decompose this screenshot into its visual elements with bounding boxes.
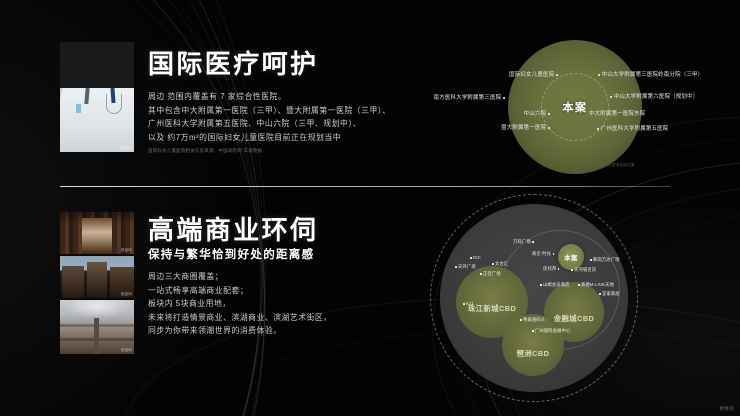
cbd-poi-label: 粤泰国码头 xyxy=(523,317,545,322)
medical-poi-label: 广州医科大学附属第五医院 xyxy=(597,127,668,132)
cbd-poi: 广州国际会展中心 xyxy=(532,329,571,333)
photo-detail xyxy=(60,88,134,152)
commerce-body-line: 周边三大商圈覆盖； xyxy=(148,270,332,284)
cbd-poi: 商企 时光 xyxy=(532,252,554,256)
section-medical: 楼盘网 国际医疗呵护 周边 范围内覆盖有 7 家综合性医院。 其中包含中大附属第… xyxy=(0,0,740,186)
medical-poi-label: 南方医科大学附属第三医院 xyxy=(390,96,505,101)
cbd-poi: 正佳广场 xyxy=(480,272,501,276)
poi-dot-icon xyxy=(520,319,522,321)
commerce-photo-1: 楼盘网 xyxy=(60,212,134,254)
medical-poi-label: 暨大附属第一医院 xyxy=(435,126,550,131)
cbd-poi-label: 万科广场 xyxy=(513,239,531,244)
cbd-poi-label: 商企 时光 xyxy=(532,251,551,256)
poi-dot-icon xyxy=(463,303,465,305)
cbd-poi-label: 天环广场 xyxy=(458,264,476,269)
cbd-zone-label: 珠江新城CBD xyxy=(468,303,516,314)
section-commerce: 楼盘网 楼盘网 楼盘网 高端商业环伺 保持与繁华恰到好处的距离感 周边三大商圈覆… xyxy=(0,186,740,416)
poi-dot-icon xyxy=(470,257,472,259)
cbd-zone-label: 金融城CBD xyxy=(554,313,595,324)
photo-watermark: 楼盘网 xyxy=(121,248,132,253)
medical-diagram: 本案 国际妇女儿童医院 南方医科大学附属第三医院 中山六院 暨大附属第一医院 中… xyxy=(455,32,710,182)
medical-body-line: 周边 范围内覆盖有 7 家综合性医院。 xyxy=(148,90,391,104)
medical-poi-text: 南方医科大学附属第三医院 xyxy=(434,95,502,101)
stethoscope-shape xyxy=(106,94,122,114)
commerce-body-line: 同步为你带来领潮世界的消费体验。 xyxy=(148,324,332,338)
medical-poi-label: 中山六院 xyxy=(455,112,550,117)
medical-poi-text: 广州医科大学附属第五医院 xyxy=(601,126,669,132)
medical-poi-label: 国际妇女儿童医院 xyxy=(448,73,558,78)
photo-detail xyxy=(82,218,112,254)
cbd-poi-label: 太古汇 xyxy=(495,261,508,266)
slide-canvas: 楼盘网 国际医疗呵护 周边 范围内覆盖有 7 家综合性医院。 其中包含中大附属第… xyxy=(0,0,740,416)
cbd-poi-label: K11 xyxy=(466,301,474,306)
medical-poi-text: 中山大学附属第三医院岭南分院（三甲） xyxy=(602,72,704,78)
medical-poi-text: 中山大学附属第六医院（规划中） xyxy=(614,94,699,100)
medical-source-note: 国际妇女儿童医院相关信息来源：中国政府网·羊城晚报 xyxy=(148,148,391,154)
medical-poi-text: 中大附属第一医院东院 xyxy=(589,111,645,117)
photo-watermark: 楼盘网 xyxy=(121,348,132,353)
poi-dot-icon xyxy=(540,284,542,286)
cbd-zone-label: 琶洲CBD xyxy=(517,348,550,359)
commerce-body-line: 未来将打造情景商业、滨湖商业、滨湖艺术街区， xyxy=(148,311,332,325)
poi-dot-icon xyxy=(599,293,601,295)
cbd-zone-pazhou: 琶洲CBD xyxy=(502,314,564,376)
cbd-poi-label: 宜家家居 xyxy=(602,291,620,296)
poi-dot-icon xyxy=(532,241,534,243)
photo-watermark: 楼盘网 xyxy=(121,146,132,151)
commerce-subtitle: 保持与繁华恰到好处的距离感 xyxy=(148,246,314,262)
doctors-photo: 楼盘网 xyxy=(60,42,134,152)
cbd-poi: 天环广场 xyxy=(455,265,476,269)
cbd-poi-label: 优托邦 xyxy=(543,266,556,271)
cbd-poi-label: 正佳广场 xyxy=(483,271,501,276)
medical-poi-text: 国际妇女儿童医院 xyxy=(509,72,554,78)
cbd-poi: 萝岗万达广场 xyxy=(590,258,620,262)
commerce-photo-3: 楼盘网 xyxy=(60,300,134,354)
cbd-poi: 山姆会员商店 xyxy=(540,283,570,287)
photo-detail xyxy=(62,266,84,298)
cbd-poi: 万科广场 xyxy=(513,240,534,244)
photo-detail xyxy=(94,318,99,354)
cbd-poi-label: IGC xyxy=(473,255,481,260)
photo-detail xyxy=(87,262,107,298)
poi-dot-icon xyxy=(598,74,600,76)
cbd-poi: 粤泰国码头 xyxy=(520,318,545,322)
medical-body-line: 广州医科大学附属第五医院、中山六院（三甲、规划中）、 xyxy=(148,117,391,131)
cbd-poi-label: 山姆会员商店 xyxy=(543,282,570,287)
poi-dot-icon xyxy=(571,269,573,271)
cbd-poi-label: 高德M·LIVE天地 xyxy=(581,282,614,287)
cbd-poi: 高德M·LIVE天地 xyxy=(578,283,614,287)
cbd-poi-label: 广州国际会展中心 xyxy=(535,328,571,333)
poi-dot-icon xyxy=(556,74,558,76)
cbd-poi: 太古汇 xyxy=(492,262,508,266)
medical-diagram-footnote: · 图标示意非实际位置 xyxy=(598,163,635,168)
cbd-diagram: 珠江新城CBD 金融城CBD 琶洲CBD 本案 IGC 天环广场 xyxy=(418,192,668,404)
poi-dot-icon xyxy=(455,266,457,268)
cbd-poi: 优托邦 xyxy=(543,267,559,271)
photo-detail xyxy=(76,104,81,113)
medical-body: 周边 范围内覆盖有 7 家综合性医院。 其中包含中大附属第一医院（三甲）、暨大附… xyxy=(148,90,391,154)
medical-body-line: 以及 约7万m²的国际妇女儿童医院目前正在规划当中 xyxy=(148,131,391,145)
medical-body-line: 其中包含中大附属第一医院（三甲）、暨大附属第一医院（三甲）、 xyxy=(148,104,391,118)
medical-poi-label: 中大附属第一医院东院 xyxy=(589,112,645,117)
poi-dot-icon xyxy=(597,128,599,130)
poi-dot-icon xyxy=(532,330,534,332)
poi-dot-icon xyxy=(492,263,494,265)
poi-dot-icon xyxy=(480,273,482,275)
medical-poi-text: 暨大附属第一医院 xyxy=(501,125,546,131)
page-watermark: 楼盘网 xyxy=(720,406,734,412)
cbd-poi: IGC xyxy=(470,256,481,260)
commerce-body: 周边三大商圈覆盖； 一站式畅享高端商业配套； 板块内 5块商业用地， 未来将打造… xyxy=(148,270,332,338)
cbd-poi-label: 萝岗万达广场 xyxy=(593,257,620,262)
medical-poi-label: 中山大学附属第三医院岭南分院（三甲） xyxy=(598,73,703,78)
commerce-photo-2: 楼盘网 xyxy=(60,256,134,298)
medical-title: 国际医疗呵护 xyxy=(148,44,318,81)
medical-poi-label: 中山大学附属第六医院（规划中） xyxy=(610,95,698,100)
cbd-center-label: 本案 xyxy=(564,253,578,262)
poi-dot-icon xyxy=(548,127,550,129)
photo-watermark: 楼盘网 xyxy=(121,292,132,297)
commerce-title: 高端商业环伺 xyxy=(148,210,318,247)
poi-dot-icon xyxy=(548,113,550,115)
section-divider xyxy=(60,186,670,187)
poi-dot-icon xyxy=(503,97,505,99)
poi-dot-icon xyxy=(553,253,555,255)
cbd-poi: 天河城百货 xyxy=(571,268,596,272)
commerce-body-line: 一站式畅享高端商业配套； xyxy=(148,284,332,298)
poi-dot-icon xyxy=(578,284,580,286)
cbd-poi-label: 天河城百货 xyxy=(574,267,596,272)
cbd-poi: 宜家家居 xyxy=(599,292,620,296)
poi-dot-icon xyxy=(610,96,612,98)
poi-dot-icon xyxy=(558,268,560,270)
commerce-body-line: 板块内 5块商业用地， xyxy=(148,297,332,311)
poi-dot-icon xyxy=(590,259,592,261)
cbd-poi: K11 xyxy=(463,302,474,306)
medical-poi-text: 中山六院 xyxy=(524,111,547,117)
